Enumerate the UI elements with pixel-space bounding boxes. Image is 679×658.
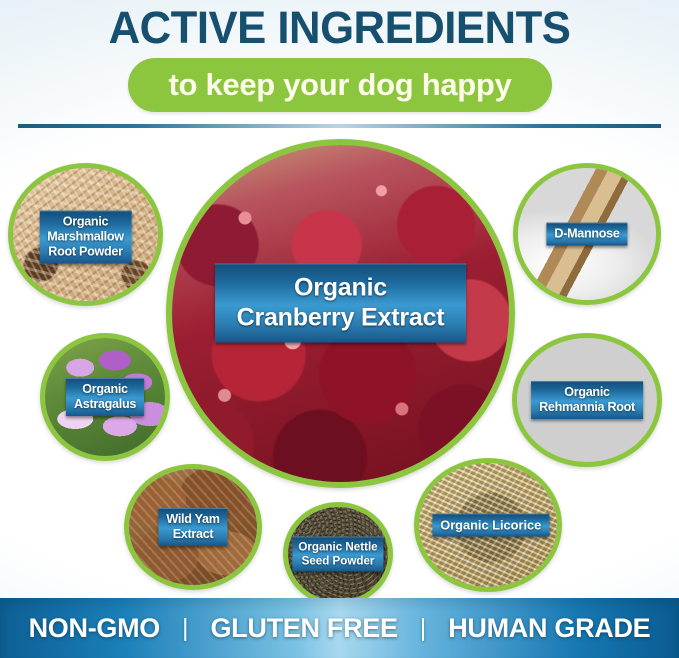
- label-line: Seed Powder: [298, 554, 377, 568]
- ingredient-circle-organic-nettle-seed-powder[interactable]: Organic Nettle Seed Powder: [283, 502, 393, 606]
- label-line: Organic Nettle: [298, 541, 377, 555]
- ingredient-circle-organic-licorice[interactable]: Organic Licorice: [414, 458, 562, 592]
- badge-separator: |: [420, 614, 427, 643]
- certification-banner: NON-GMO | GLUTEN FREE | HUMAN GRADE: [0, 598, 679, 658]
- subtitle-pill: to keep your dog happy: [128, 58, 552, 112]
- label-line: D-Mannose: [554, 227, 619, 242]
- ingredient-circle-wild-yam-extract[interactable]: Wild Yam Extract: [124, 464, 262, 590]
- ingredient-label-organic-astragalus: Organic Astragalus: [66, 378, 144, 416]
- label-line: Organic: [47, 215, 123, 230]
- label-line: Organic: [74, 382, 136, 397]
- label-line: Organic: [237, 273, 445, 303]
- ingredient-label-wild-yam-extract: Wild Yam Extract: [158, 508, 227, 546]
- ingredient-label-organic-rehmannia-root: Organic Rehmannia Root: [531, 381, 643, 419]
- badge-separator: |: [182, 614, 189, 643]
- label-line: Organic Licorice: [440, 518, 541, 533]
- badge-human-grade: HUMAN GRADE: [448, 613, 650, 644]
- label-line: Root Powder: [47, 245, 123, 260]
- ingredients-infographic: ACTIVE INGREDIENTS to keep your dog happ…: [0, 0, 679, 658]
- page-title: ACTIVE INGREDIENTS: [10, 2, 669, 54]
- label-line: Extract: [166, 527, 219, 542]
- ingredient-circle-organic-astragalus[interactable]: Organic Astragalus: [40, 333, 170, 461]
- ingredient-label-organic-licorice: Organic Licorice: [432, 514, 549, 537]
- subtitle-text: to keep your dog happy: [168, 68, 511, 102]
- ingredient-circle-organic-rehmannia-root[interactable]: Organic Rehmannia Root: [512, 333, 662, 467]
- ingredient-label-organic-marshmallow-root-powder: Organic Marshmallow Root Powder: [39, 211, 131, 264]
- badge-non-gmo: NON-GMO: [29, 613, 160, 644]
- header-divider: [18, 124, 661, 128]
- ingredient-label-organic-nettle-seed-powder: Organic Nettle Seed Powder: [292, 537, 383, 572]
- label-line: Rehmannia Root: [539, 400, 635, 415]
- label-line: Cranberry Extract: [237, 303, 445, 333]
- label-line: Wild Yam: [166, 512, 219, 527]
- ingredient-circle-organic-cranberry-extract[interactable]: Organic Cranberry Extract: [166, 139, 515, 488]
- ingredient-label-d-mannose: D-Mannose: [546, 223, 627, 246]
- label-line: Marshmallow: [47, 230, 123, 245]
- ingredient-circle-d-mannose[interactable]: D-Mannose: [513, 163, 661, 305]
- label-line: Organic: [539, 385, 635, 400]
- badge-gluten-free: GLUTEN FREE: [210, 613, 397, 644]
- ingredient-circle-organic-marshmallow-root-powder[interactable]: Organic Marshmallow Root Powder: [8, 163, 163, 306]
- ingredient-label-organic-cranberry-extract: Organic Cranberry Extract: [215, 264, 467, 343]
- label-line: Astragalus: [74, 397, 136, 412]
